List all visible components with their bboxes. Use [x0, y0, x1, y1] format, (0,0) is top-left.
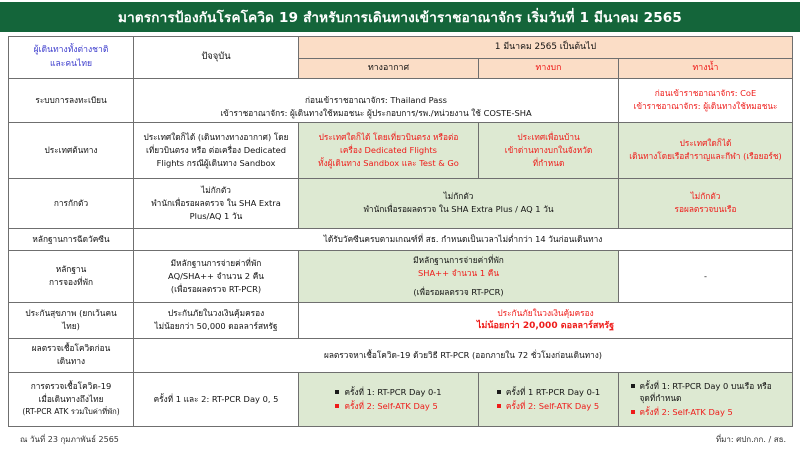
registration-sea-line1: ก่อนเข้าราชอาณาจักร: CoE [622, 87, 789, 100]
arrival-land-cell: ครั้งที่ 1 RT-PCR Day 0-1 ครั้งที่ 2: Se… [479, 372, 619, 426]
bullet-square-icon [335, 404, 339, 408]
arrival-air-bullet-2: ครั้งที่ 2: Self-ATK Day 5 [344, 400, 437, 412]
arrival-land-bullet-1: ครั้งที่ 1 RT-PCR Day 0-1 [506, 386, 600, 398]
footer-source: ที่มา: ศปก.กก. / สธ. [716, 433, 786, 446]
registration-current-air-land-cell: ก่อนเข้าราชอาณาจักร: Thailand Pass เข้าร… [134, 79, 619, 123]
table-row-pretravel-test: ผลตรวจเชื้อโควิดก่อน เดินทาง ผลตรวจหาเชื… [9, 338, 793, 372]
bullet-square-icon [335, 390, 339, 394]
row-label-insurance: ประกันสุขภาพ (ยกเว้นคน ไทย) [9, 302, 134, 338]
page-title-banner: มาตรการป้องกันโรคโควิด 19 สำหรับการเดินท… [0, 2, 800, 32]
arrival-sea-bullet-2: ครั้งที่ 2: Self-ATK Day 5 [640, 406, 733, 418]
table-row-accommodation: หลักฐาน การจองที่พัก มีหลักฐานการจ่ายค่า… [9, 250, 793, 302]
origin-current-line1: ประเทศใดก็ได้ (เดินทางทางอากาศ) โดย [137, 131, 295, 144]
header-future-period-label: 1 มีนาคม 2565 เป็นต้นไป [495, 42, 596, 52]
origin-air-line1: ประเทศใดก็ได้ โดยเที่ยวบินตรง หรือต่อ [302, 131, 475, 144]
header-mode-air-label: ทางอากาศ [368, 63, 409, 73]
row-label-registration: ระบบการลงทะเบียน [9, 79, 134, 123]
header-mode-sea-label: ทางน้ำ [693, 63, 719, 73]
insurance-future-line1: ประกันภัยในวงเงินคุ้มครอง [302, 307, 789, 320]
covid-measures-table: ผู้เดินทางทั้งต่างชาติ และคนไทย ปัจจุบัน… [8, 36, 793, 427]
table-row-registration: ระบบการลงทะเบียน ก่อนเข้าราชอาณาจักร: Th… [9, 79, 793, 123]
bullet-square-icon [497, 404, 501, 408]
row-label-arrival-line2: เมื่อเดินทางถึงไทย [12, 393, 130, 406]
accommodation-sea-cell: - [619, 250, 793, 302]
origin-sea-cell: ประเทศใดก็ได้ เดินทางโดยเรือสำราญและกีฬา… [619, 122, 793, 178]
registration-sea-line2: เข้าราชอาณาจักร: ผู้เดินทางใช้หมอชนะ [622, 100, 789, 113]
origin-land-line2: เข้าด่านทางบกในจังหวัด [482, 144, 615, 157]
origin-land-line3: ที่กำหนด [482, 157, 615, 170]
accommodation-air-land-line2: (เพื่อรอผลตรวจ RT-PCR) [302, 286, 615, 299]
accommodation-air-land-cell: มีหลักฐานการจ่ายค่าที่พัก SHA++ จำนวน 1 … [299, 250, 619, 302]
insurance-future-cell: ประกันภัยในวงเงินคุ้มครอง ไม่น้อยกว่า 20… [299, 302, 793, 338]
list-item: ครั้งที่ 2: Self-ATK Day 5 [497, 400, 600, 412]
header-current-cell: ปัจจุบัน [134, 37, 299, 79]
origin-current-line2: เที่ยวบินตรง หรือ ต่อเครื่อง Dedicated [137, 144, 295, 157]
row-label-arrival-test: การตรวจเชื้อโควิด-19 เมื่อเดินทางถึงไทย … [9, 372, 134, 426]
header-mode-air-cell: ทางอากาศ [299, 59, 479, 79]
accommodation-air-land-prefix: มีหลักฐานการจ่ายค่าที่พัก [302, 254, 615, 267]
row-label-pretravel-line2: เดินทาง [12, 355, 130, 368]
quarantine-sea-line1: ไม่กักตัว [622, 190, 789, 203]
origin-sea-line1: ประเทศใดก็ได้ [622, 137, 789, 150]
origin-sea-line2: เดินทางโดยเรือสำราญและกีฬา (เรือยอร์ช) [622, 150, 789, 163]
quarantine-air-land-line2: พำนักเพื่อรอผลตรวจ ใน SHA Extra Plus / A… [302, 203, 615, 216]
quarantine-current-line3: Plus/AQ 1 วัน [137, 210, 295, 223]
accommodation-current-line1: มีหลักฐานการจ่ายค่าที่พัก [137, 257, 295, 270]
registration-line2: เข้าราชอาณาจักร: ผู้เดินทางใช้หมอชนะ ผู้… [137, 107, 615, 120]
table-row-insurance: ประกันสุขภาพ (ยกเว้นคน ไทย) ประกันภัยในว… [9, 302, 793, 338]
page-title: มาตรการป้องกันโรคโควิด 19 สำหรับการเดินท… [118, 6, 682, 28]
registration-line1: ก่อนเข้าราชอาณาจักร: Thailand Pass [137, 94, 615, 107]
list-item: ครั้งที่ 1: RT-PCR Day 0-1 [335, 386, 441, 398]
header-travellers-cell: ผู้เดินทางทั้งต่างชาติ และคนไทย [9, 37, 134, 79]
header-current-label: ปัจจุบัน [201, 51, 230, 62]
row-label-pretravel-line1: ผลตรวจเชื้อโควิดก่อน [12, 342, 130, 355]
accommodation-air-land-highlight: SHA++ จำนวน 1 คืน [302, 267, 615, 280]
quarantine-current-cell: ไม่กักตัว พำนักเพื่อรอผลตรวจ ใน SHA Extr… [134, 178, 299, 228]
row-label-vaccination: หลักฐานการฉีดวัคซีน [9, 228, 134, 250]
bullet-square-icon [497, 390, 501, 394]
origin-land-line1: ประเทศเพื่อนบ้าน [482, 131, 615, 144]
origin-air-line3: ทั้งผู้เดินทาง Sandbox และ Test & Go [302, 157, 475, 170]
registration-sea-cell: ก่อนเข้าราชอาณาจักร: CoE เข้าราชอาณาจักร… [619, 79, 793, 123]
header-travellers-line2: และคนไทย [12, 58, 130, 72]
table-row-vaccination: หลักฐานการฉีดวัคซีน ได้รับวัคซีนครบตามเก… [9, 228, 793, 250]
bullet-square-icon [631, 410, 635, 414]
list-item: ครั้งที่ 1: RT-PCR Day 0 บนเรือ หรือจุดท… [631, 380, 781, 405]
arrival-sea-bullet-1: ครั้งที่ 1: RT-PCR Day 0 บนเรือ หรือจุดท… [640, 380, 781, 405]
arrival-land-bullet-2: ครั้งที่ 2: Self-ATK Day 5 [506, 400, 599, 412]
table-header-row-1: ผู้เดินทางทั้งต่างชาติ และคนไทย ปัจจุบัน… [9, 37, 793, 59]
pretravel-test-merged-cell: ผลตรวจหาเชื้อโควิด-19 ด้วยวิธี RT-PCR (อ… [134, 338, 793, 372]
quarantine-air-land-line1: ไม่กักตัว [302, 190, 615, 203]
footer-date: ณ วันที่ 23 กุมภาพันธ์ 2565 [20, 433, 119, 446]
arrival-air-cell: ครั้งที่ 1: RT-PCR Day 0-1 ครั้งที่ 2: S… [299, 372, 479, 426]
origin-land-cell: ประเทศเพื่อนบ้าน เข้าด่านทางบกในจังหวัด … [479, 122, 619, 178]
row-label-insurance-line2: ไทย) [12, 320, 130, 333]
infographic-page: มาตรการป้องกันโรคโควิด 19 สำหรับการเดินท… [0, 0, 800, 450]
quarantine-sea-line2: รอผลตรวจบนเรือ [622, 203, 789, 216]
origin-air-line2: เครื่อง Dedicated Flights [302, 144, 475, 157]
row-label-origin-country: ประเทศต้นทาง [9, 122, 134, 178]
insurance-current-line1: ประกันภัยในวงเงินคุ้มครอง [137, 307, 295, 320]
quarantine-current-line1: ไม่กักตัว [137, 184, 295, 197]
accommodation-air-land-line1: มีหลักฐานการจ่ายค่าที่พัก SHA++ จำนวน 1 … [302, 254, 615, 280]
insurance-current-cell: ประกันภัยในวงเงินคุ้มครอง ไม่น้อยกว่า 50… [134, 302, 299, 338]
bullet-square-icon [631, 384, 635, 388]
arrival-current-cell: ครั้งที่ 1 และ 2: RT-PCR Day 0, 5 [134, 372, 299, 426]
table-row-origin-country: ประเทศต้นทาง ประเทศใดก็ได้ (เดินทางทางอา… [9, 122, 793, 178]
vaccination-merged-cell: ได้รับวัคซีนครบตามเกณฑ์ที่ สธ. กำหนดเป็น… [134, 228, 793, 250]
quarantine-current-line2: พำนักเพื่อรอผลตรวจ ใน SHA Extra [137, 197, 295, 210]
insurance-future-line2: ไม่น้อยกว่า 20,000 ดอลลาร์สหรัฐ [302, 320, 789, 334]
list-item: ครั้งที่ 2: Self-ATK Day 5 [335, 400, 441, 412]
row-label-accommodation-line2: การจองที่พัก [12, 276, 130, 289]
row-label-quarantine: การกักตัว [9, 178, 134, 228]
table-row-quarantine: การกักตัว ไม่กักตัว พำนักเพื่อรอผลตรวจ ใ… [9, 178, 793, 228]
row-label-accommodation: หลักฐาน การจองที่พัก [9, 250, 134, 302]
accommodation-current-line3: (เพื่อรอผลตรวจ RT-PCR) [137, 283, 295, 296]
header-mode-land-cell: ทางบก [479, 59, 619, 79]
list-item: ครั้งที่ 2: Self-ATK Day 5 [631, 406, 781, 418]
header-mode-land-label: ทางบก [536, 63, 562, 73]
row-label-arrival-line1: การตรวจเชื้อโควิด-19 [12, 380, 130, 393]
list-item: ครั้งที่ 1 RT-PCR Day 0-1 [497, 386, 600, 398]
header-travellers-line1: ผู้เดินทางทั้งต่างชาติ [12, 44, 130, 58]
row-label-pretravel-test: ผลตรวจเชื้อโควิดก่อน เดินทาง [9, 338, 134, 372]
insurance-current-line2: ไม่น้อยกว่า 50,000 ดอลลาร์สหรัฐ [137, 320, 295, 333]
row-label-accommodation-line1: หลักฐาน [12, 263, 130, 276]
header-mode-sea-cell: ทางน้ำ [619, 59, 793, 79]
header-future-period-cell: 1 มีนาคม 2565 เป็นต้นไป [299, 37, 793, 59]
origin-current-line3: Flights กรณีผู้เดินทาง Sandbox [137, 157, 295, 170]
arrival-sea-cell: ครั้งที่ 1: RT-PCR Day 0 บนเรือ หรือจุดท… [619, 372, 793, 426]
table-row-arrival-test: การตรวจเชื้อโควิด-19 เมื่อเดินทางถึงไทย … [9, 372, 793, 426]
row-label-arrival-line3: (RT-PCR ATK รวมใบค่าที่พัก) [12, 406, 130, 418]
accommodation-current-cell: มีหลักฐานการจ่ายค่าที่พัก AQ/SHA++ จำนวน… [134, 250, 299, 302]
row-label-insurance-line1: ประกันสุขภาพ (ยกเว้นคน [12, 307, 130, 320]
accommodation-current-line2: AQ/SHA++ จำนวน 2 คืน [137, 270, 295, 283]
quarantine-sea-cell: ไม่กักตัว รอผลตรวจบนเรือ [619, 178, 793, 228]
origin-current-cell: ประเทศใดก็ได้ (เดินทางทางอากาศ) โดย เที่… [134, 122, 299, 178]
quarantine-air-land-cell: ไม่กักตัว พำนักเพื่อรอผลตรวจ ใน SHA Extr… [299, 178, 619, 228]
footer: ณ วันที่ 23 กุมภาพันธ์ 2565 ที่มา: ศปก.ก… [0, 432, 800, 448]
origin-air-cell: ประเทศใดก็ได้ โดยเที่ยวบินตรง หรือต่อ เค… [299, 122, 479, 178]
arrival-air-bullet-1: ครั้งที่ 1: RT-PCR Day 0-1 [344, 386, 441, 398]
